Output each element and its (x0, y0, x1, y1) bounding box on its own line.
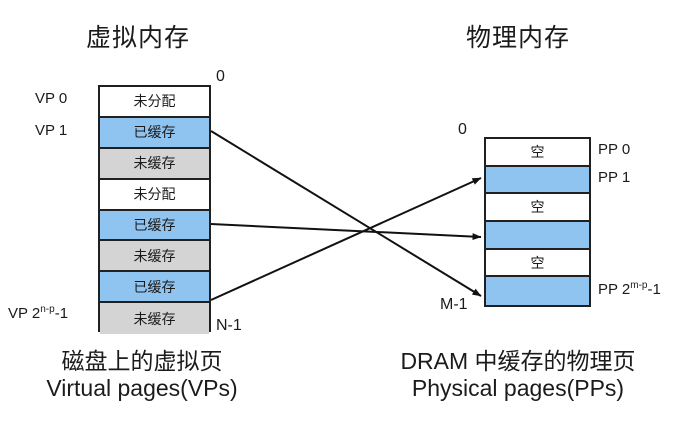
pp-0-label: PP 0 (598, 141, 630, 158)
pp-last-suffix: -1 (647, 281, 660, 298)
physical-address-end-marker: M-1 (440, 296, 468, 314)
physical-pages-caption-cn: DRAM 中缓存的物理页 (348, 348, 688, 375)
virtual-page-row-4: 已缓存 (100, 211, 209, 242)
vp-last-prefix: VP 2 (8, 305, 40, 322)
pp-last-prefix: PP 2 (598, 281, 630, 298)
physical-page-row-3 (486, 222, 589, 250)
mapping-vp4-to-pp3 (211, 224, 481, 237)
virtual-pages-caption-en: Virtual pages(VPs) (16, 375, 268, 402)
physical-pages-table: 空 空 空 (484, 137, 591, 307)
virtual-pages-caption: 磁盘上的虚拟页 Virtual pages(VPs) (16, 348, 268, 402)
virtual-page-row-3: 未分配 (100, 180, 209, 211)
physical-page-row-5 (486, 277, 589, 305)
virtual-pages-caption-cn: 磁盘上的虚拟页 (16, 348, 268, 375)
virtual-page-label-5: 未缓存 (134, 246, 176, 266)
virtual-address-start-marker: 0 (216, 68, 225, 86)
vp-1-label: VP 1 (35, 122, 67, 139)
physical-page-label-4: 空 (531, 253, 545, 273)
virtual-memory-diagram: 虚拟内存 物理内存 未分配 已缓存 未缓存 未分配 已缓存 未缓存 已缓存 未缓… (0, 0, 700, 441)
virtual-page-row-7: 未缓存 (100, 303, 209, 334)
virtual-page-row-2: 未缓存 (100, 149, 209, 180)
virtual-page-label-1: 已缓存 (134, 122, 176, 142)
physical-page-row-0: 空 (486, 139, 589, 167)
virtual-page-row-5: 未缓存 (100, 241, 209, 272)
virtual-page-label-7: 未缓存 (134, 309, 176, 329)
pp-1-label: PP 1 (598, 169, 630, 186)
mapping-vp6-to-pp1 (211, 178, 481, 300)
physical-memory-title: 物理内存 (466, 18, 570, 54)
physical-page-row-1 (486, 167, 589, 195)
virtual-page-label-4: 已缓存 (134, 215, 176, 235)
pp-last-label: PP 2m-p-1 (598, 281, 661, 298)
virtual-page-label-6: 已缓存 (134, 277, 176, 297)
physical-page-row-4: 空 (486, 250, 589, 278)
mapping-vp1-to-last-pp (211, 131, 481, 296)
vp-last-suffix: -1 (55, 305, 68, 322)
virtual-page-label-3: 未分配 (134, 184, 176, 204)
virtual-pages-table: 未分配 已缓存 未缓存 未分配 已缓存 未缓存 已缓存 未缓存 (98, 85, 211, 332)
virtual-address-end-marker: N-1 (216, 317, 242, 335)
vp-last-label: VP 2n-p-1 (8, 305, 68, 322)
physical-address-start-marker: 0 (458, 121, 467, 139)
virtual-page-row-0: 未分配 (100, 87, 209, 118)
physical-pages-caption-en: Physical pages(PPs) (348, 375, 688, 402)
virtual-memory-title: 虚拟内存 (86, 18, 190, 54)
virtual-page-row-1: 已缓存 (100, 118, 209, 149)
vp-last-superscript: n-p (40, 304, 54, 315)
virtual-page-label-0: 未分配 (134, 91, 176, 111)
physical-page-row-2: 空 (486, 194, 589, 222)
physical-page-label-2: 空 (531, 197, 545, 217)
vp-0-label: VP 0 (35, 90, 67, 107)
physical-page-label-0: 空 (531, 142, 545, 162)
virtual-page-label-2: 未缓存 (134, 153, 176, 173)
physical-pages-caption: DRAM 中缓存的物理页 Physical pages(PPs) (348, 348, 688, 402)
pp-last-superscript: m-p (630, 280, 647, 291)
virtual-page-row-6: 已缓存 (100, 272, 209, 303)
